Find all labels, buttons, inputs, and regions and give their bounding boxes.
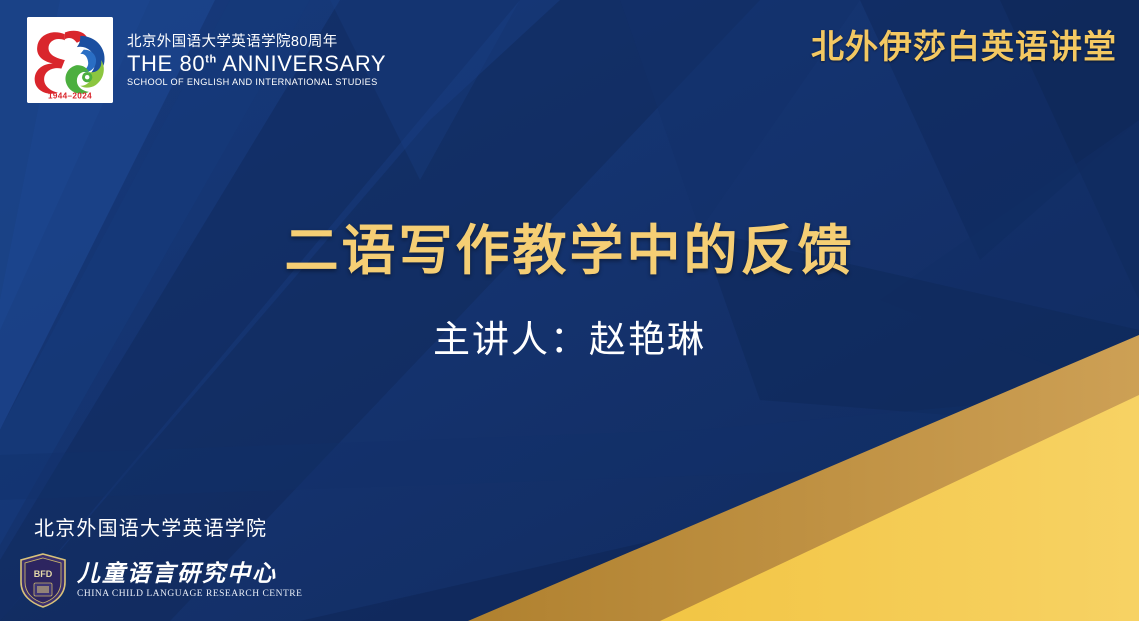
svg-text:BFD: BFD	[34, 569, 53, 579]
speaker-name-line: 主讲人：赵艳琳	[0, 309, 1139, 363]
svg-text:1944–2024: 1944–2024	[48, 92, 92, 101]
slide-main-title: 二语写作教学中的反馈	[0, 222, 1139, 281]
school-affiliation: 北京外国语大学英语学院	[34, 512, 267, 541]
presentation-slide: 1944–2024 北京外国语大学英语学院80周年 THE 80th ANNIV…	[0, 0, 1139, 621]
anniversary-english-prefix: THE 80	[127, 51, 205, 76]
anniversary-ordinal-suffix: th	[205, 54, 217, 66]
anniversary-english-title: THE 80th ANNIVERSARY	[127, 53, 386, 75]
anniversary-english-suffix: ANNIVERSARY	[217, 51, 386, 76]
anniversary-lockup: 1944–2024 北京外国语大学英语学院80周年 THE 80th ANNIV…	[27, 17, 386, 103]
title-block: 二语写作教学中的反馈 主讲人：赵艳琳	[0, 222, 1139, 363]
research-centre-lockup: BFD 儿童语言研究中心 CHINA CHILD LANGUAGE RESEAR…	[18, 552, 302, 609]
anniversary-chinese-title: 北京外国语大学英语学院80周年	[127, 35, 386, 50]
anniversary-school-subtitle: SCHOOL OF ENGLISH AND INTERNATIONAL STUD…	[127, 78, 386, 87]
anniversary-80-logo-icon: 1944–2024	[27, 17, 113, 103]
shield-crest-icon: BFD	[18, 552, 68, 609]
research-centre-english-name: CHINA CHILD LANGUAGE RESEARCH CENTRE	[77, 590, 302, 600]
research-centre-chinese-name: 儿童语言研究中心	[77, 562, 302, 585]
lecture-series-brand: 北外伊莎白英语讲堂	[811, 20, 1117, 68]
